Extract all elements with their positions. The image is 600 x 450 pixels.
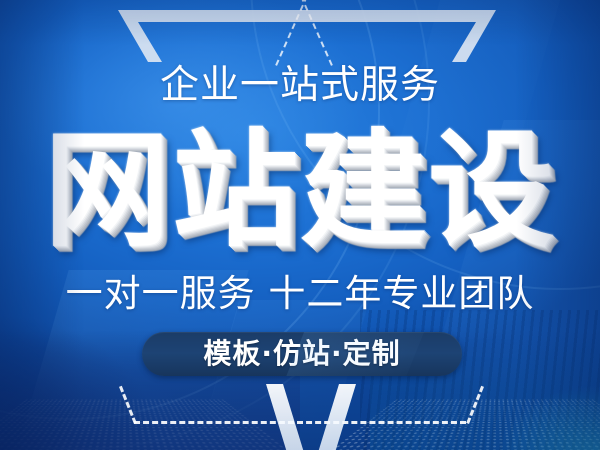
service-type-pill-label: 模板·仿站·定制 xyxy=(203,340,400,368)
banner-content: 企业一站式服务 网站建设 一对一服务 十二年专业团队 模板·仿站·定制 xyxy=(0,0,600,450)
promo-banner: 企业一站式服务 网站建设 一对一服务 十二年专业团队 模板·仿站·定制 xyxy=(0,0,600,450)
service-type-pill[interactable]: 模板·仿站·定制 xyxy=(142,332,462,376)
banner-subline: 一对一服务 十二年专业团队 xyxy=(0,275,600,312)
banner-headline: 网站建设 xyxy=(0,128,600,254)
banner-eyebrow: 企业一站式服务 xyxy=(0,66,600,105)
